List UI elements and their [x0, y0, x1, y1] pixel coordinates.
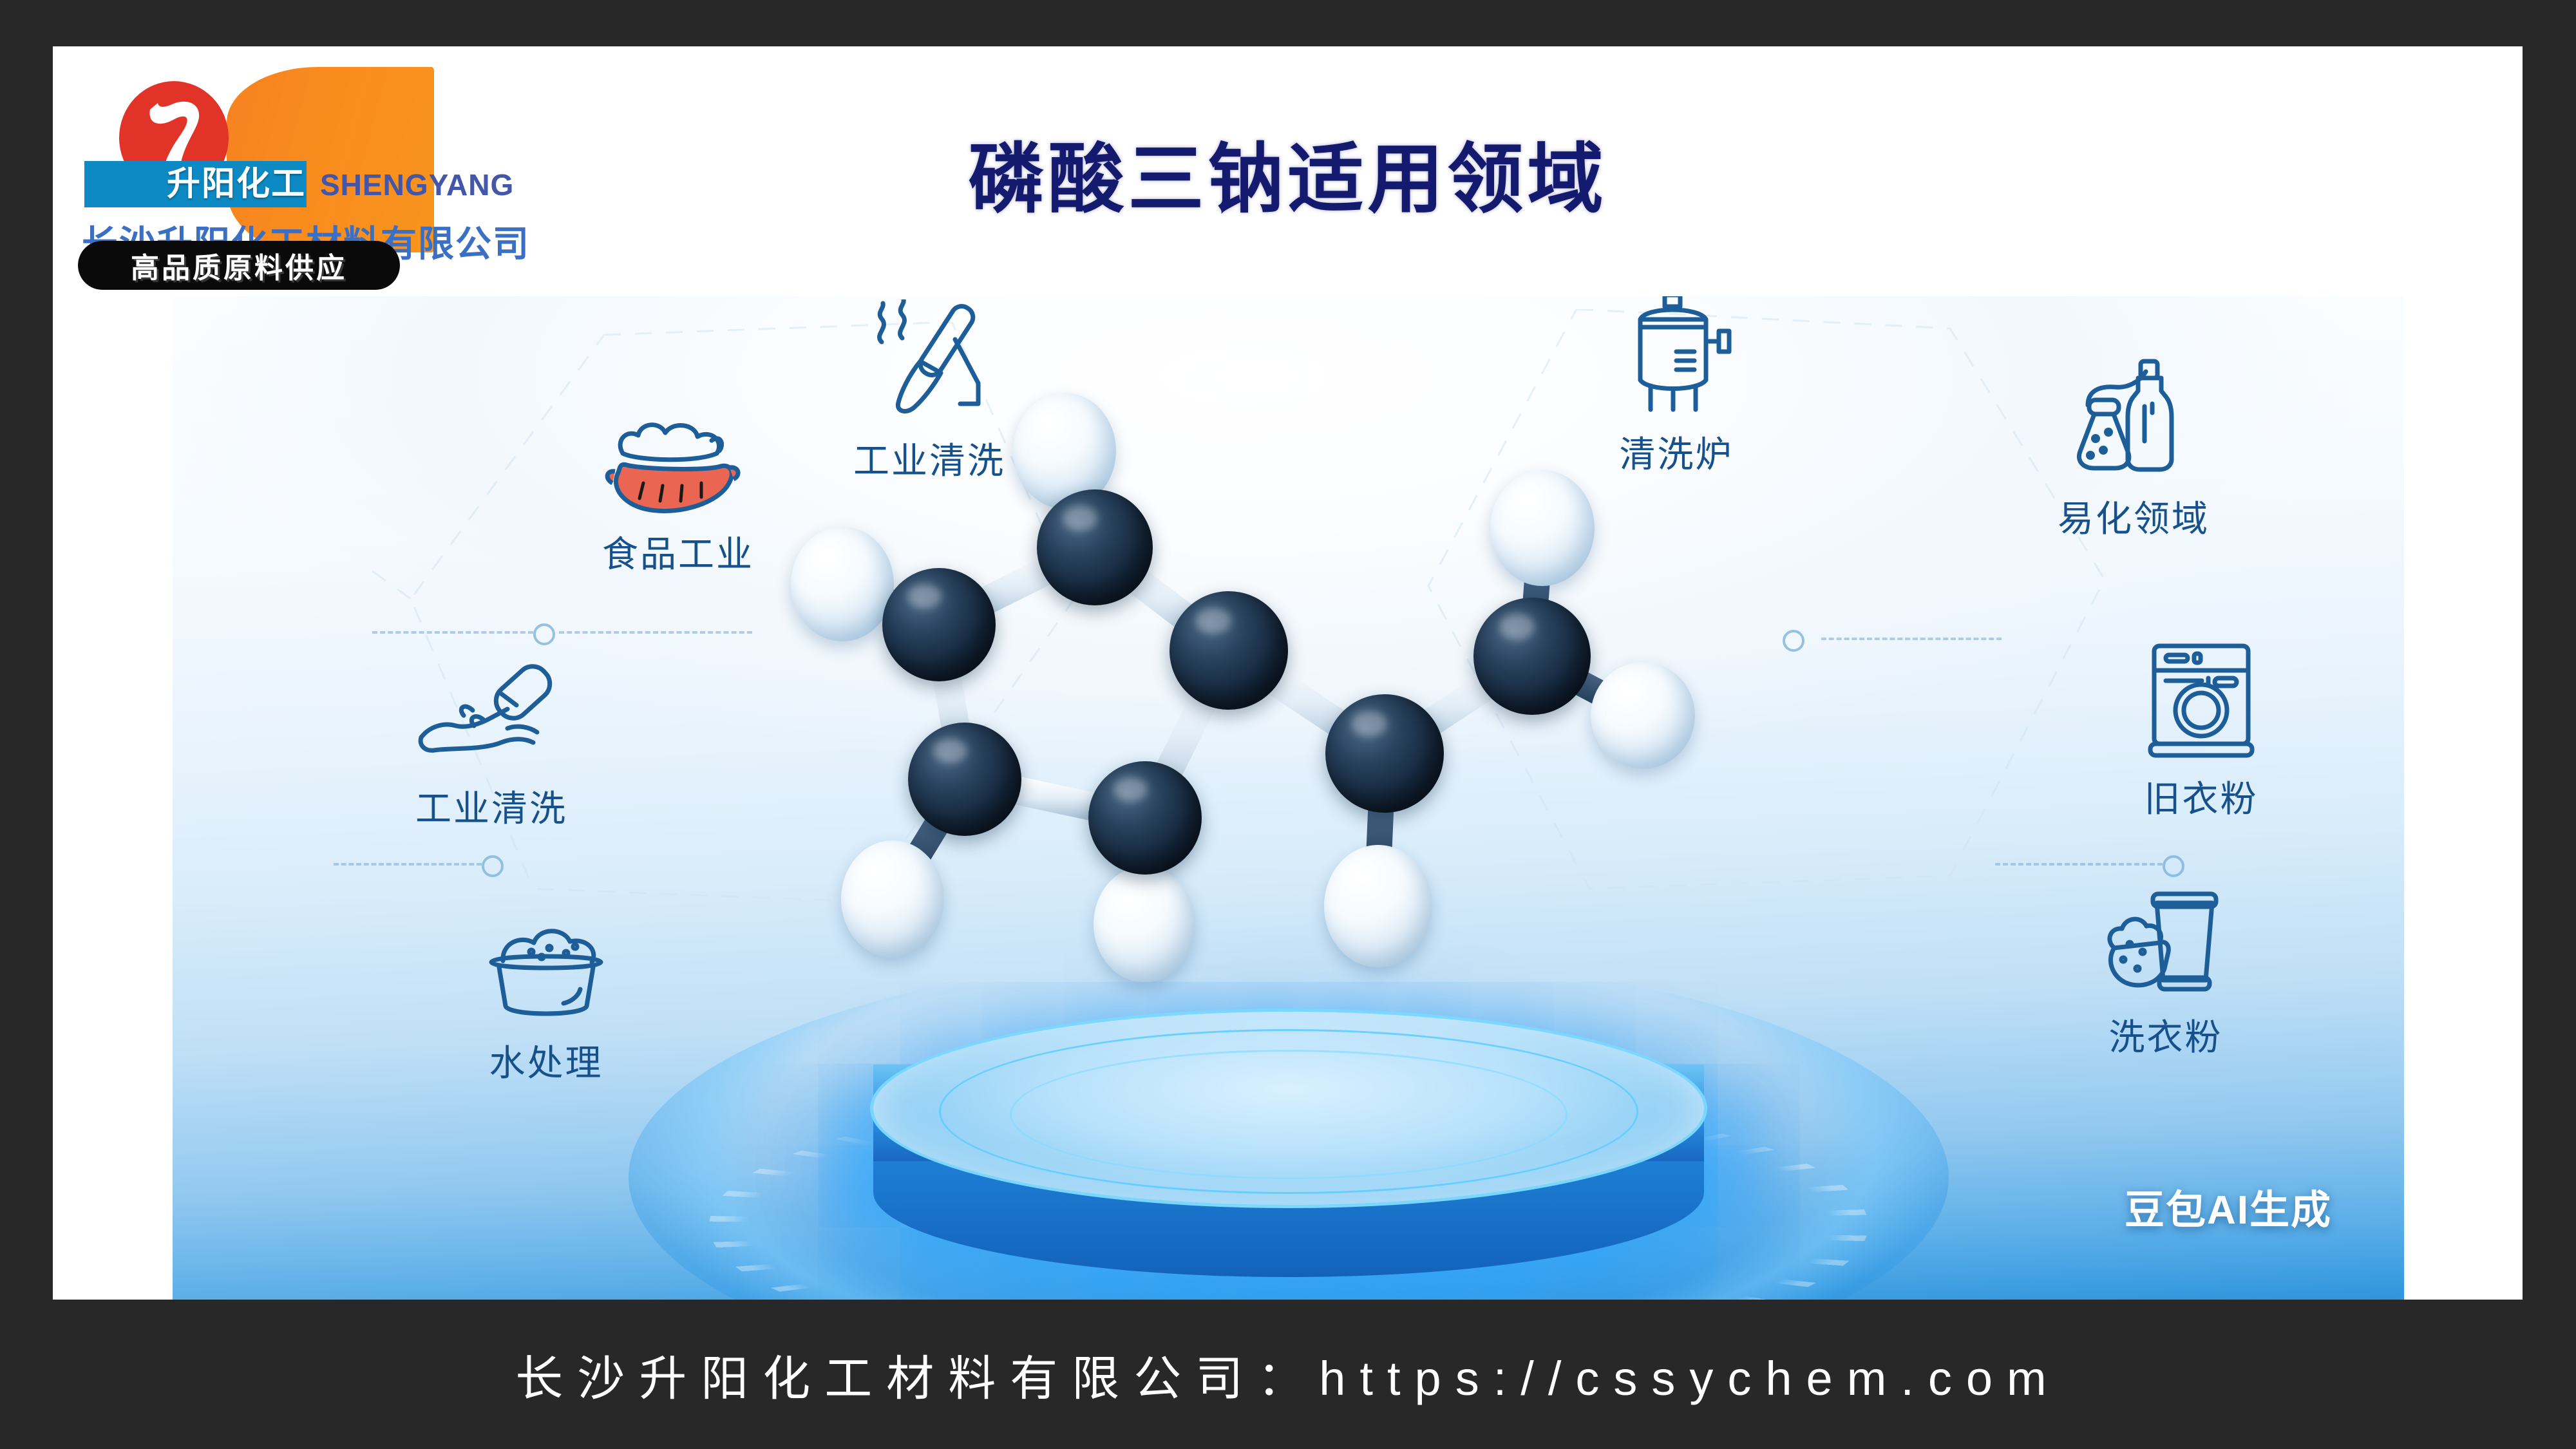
node-old-clothes-powder[interactable]: 旧衣粉	[2095, 647, 2307, 822]
hydrogen-atom	[1094, 866, 1195, 982]
bowl-icon	[440, 911, 652, 1024]
node-label: 水处理	[440, 1034, 652, 1086]
carbon-atom	[908, 723, 1021, 836]
node-label: 易化领域	[2027, 490, 2240, 542]
hydrogen-atom	[1591, 662, 1695, 769]
node-label: 工业清洗	[823, 432, 1036, 484]
carbon-atom	[1325, 694, 1444, 813]
quality-badge: 高品质原料供应	[78, 241, 400, 290]
node-laundry-powder[interactable]: 洗衣粉	[2060, 885, 2272, 1061]
connector-line	[1821, 638, 2002, 640]
hydrogen-atom	[791, 527, 894, 641]
node-label: 工业清洗	[385, 780, 598, 832]
carbon-atom	[882, 568, 996, 681]
connector-line	[1995, 863, 2163, 866]
connector-dot	[533, 623, 555, 645]
washing-machine-icon	[2095, 647, 2307, 760]
carbon-atom	[1088, 761, 1202, 875]
node-food-industry[interactable]: 食品工业	[572, 402, 784, 578]
connector-dot	[482, 855, 504, 877]
tank-icon	[1570, 303, 1783, 415]
sausage-icon	[572, 402, 784, 515]
node-cleaning-furnace[interactable]: 清洗炉	[1570, 303, 1783, 478]
bucket-sponge-icon	[2060, 885, 2272, 998]
node-industrial-cleaning-left[interactable]: 工业清洗	[385, 657, 598, 832]
node-label: 食品工业	[572, 526, 784, 578]
quality-badge-label: 高品质原料供应	[131, 245, 347, 286]
node-label: 清洗炉	[1570, 426, 1783, 478]
node-easing-field[interactable]: 易化领域	[2027, 367, 2240, 542]
watermark: 豆包AI生成	[2125, 1177, 2332, 1235]
connector-line	[334, 863, 482, 866]
node-industrial-cleaning-top[interactable]: 工业清洗	[823, 309, 1036, 484]
connector-line	[559, 631, 752, 634]
hydrogen-atom	[1324, 845, 1432, 967]
footer-text: 长沙升阳化工材料有限公司：https://cssychem.com	[515, 1340, 2060, 1409]
footer-bar: 长沙升阳化工材料有限公司：https://cssychem.com	[0, 1300, 2576, 1449]
brush-icon	[823, 309, 1036, 422]
node-label: 洗衣粉	[2060, 1009, 2272, 1061]
node-label: 旧衣粉	[2095, 770, 2307, 822]
carbon-atom	[1170, 591, 1288, 710]
node-water-treatment[interactable]: 水处理	[440, 911, 652, 1086]
poster-card: 升阳化工 SHENGYANG 长沙升阳化工材料有限公司 高品质原料供应 磷酸三钠…	[53, 46, 2523, 1300]
carbon-atom	[1473, 598, 1591, 715]
hand-bottle-icon	[385, 657, 598, 770]
carbon-atom	[1037, 489, 1153, 605]
podium-inner-ring-2	[1010, 1050, 1567, 1179]
hydrogen-atom	[841, 840, 944, 958]
connector-dot	[2163, 855, 2184, 877]
bottles-icon	[2027, 367, 2240, 480]
hydrogen-atom	[1490, 470, 1595, 586]
page-title: 磷酸三钠适用领域	[53, 117, 2523, 227]
illustration-scene: 食品工业 工业清洗	[173, 296, 2404, 1300]
connector-line	[372, 631, 533, 634]
